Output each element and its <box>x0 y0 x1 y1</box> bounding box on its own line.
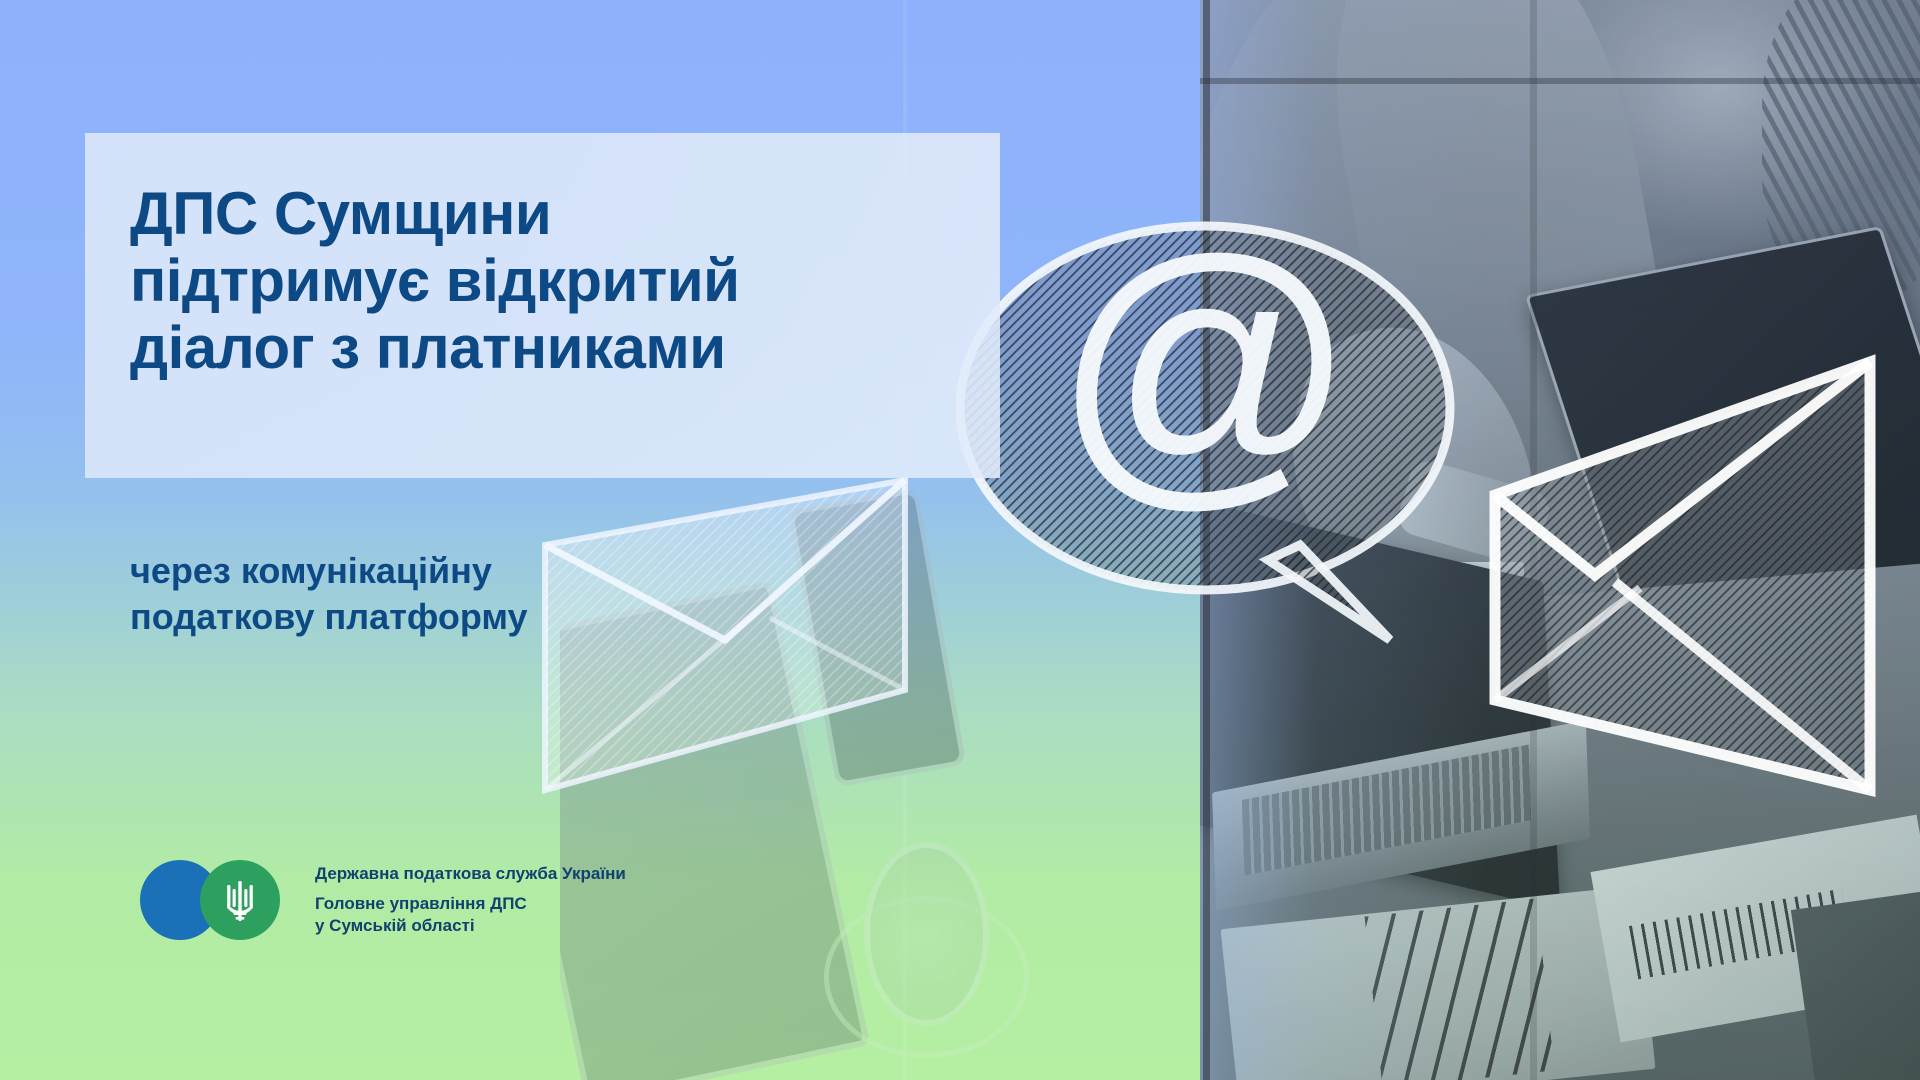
window-frame-horizontal <box>1200 78 1920 84</box>
subtitle-line-1: через комунікаційну <box>130 548 750 594</box>
ukraine-trident-icon <box>224 879 256 923</box>
unit-name-line-2: у Сумській області <box>315 915 626 937</box>
logo-marks <box>140 855 305 945</box>
logo-text-block: Державна податкова служба України Головн… <box>315 863 626 936</box>
window-mullion-2 <box>1530 0 1537 1080</box>
headline-line-1: ДПС Сумщини <box>130 180 1010 247</box>
logo-lockup: Державна податкова служба України Головн… <box>140 855 626 945</box>
headline-line-3: діалог з платниками <box>130 314 1010 381</box>
page-title: ДПС Сумщини підтримує відкритий діалог з… <box>130 180 1010 382</box>
unit-name: Головне управління ДПС у Сумській област… <box>315 893 626 937</box>
photo-fade-left <box>1200 0 1920 1080</box>
background-photo-right <box>1200 0 1920 1080</box>
ghost-cup <box>864 842 989 1026</box>
subtitle: через комунікаційну податкову платформу <box>130 548 750 640</box>
org-name: Державна податкова служба України <box>315 863 626 884</box>
banner-canvas: @ ДПС Сумщини підтримує відкритий діалог… <box>0 0 1920 1080</box>
unit-name-line-1: Головне управління ДПС <box>315 893 626 915</box>
subtitle-line-2: податкову платформу <box>130 594 750 640</box>
ghost-phone <box>787 487 966 786</box>
headline-line-2: підтримує відкритий <box>130 247 1010 314</box>
